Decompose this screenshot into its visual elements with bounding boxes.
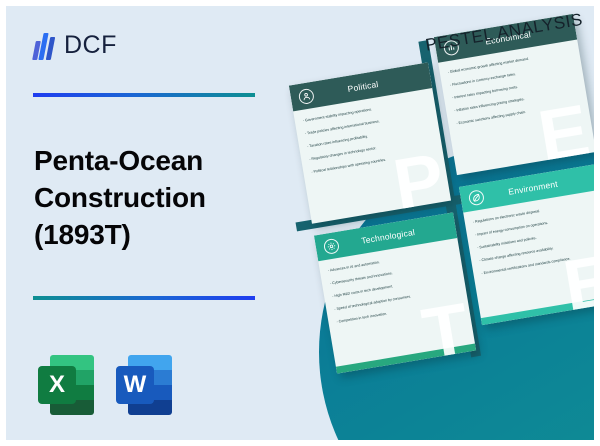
brand-logo[interactable]: DCF: [34, 30, 117, 60]
pestel-card-political[interactable]: Political P Government stability impacti…: [289, 62, 451, 223]
bar-chart-logo-icon: [34, 30, 56, 60]
page-title: Penta-Ocean Construction (1893T): [34, 143, 284, 254]
left-content-column: DCF Penta-Ocean Construction (1893T) X W: [6, 6, 306, 446]
word-file-icon[interactable]: W: [116, 355, 172, 415]
excel-letter: X: [38, 366, 76, 404]
brand-logo-text: DCF: [64, 31, 117, 60]
file-format-icons: X W: [38, 355, 172, 415]
pestel-card-technological[interactable]: Technological T Advances in AI and autom…: [314, 212, 476, 373]
divider-top: [33, 93, 255, 97]
slide-canvas: DCF Penta-Ocean Construction (1893T) X W…: [0, 0, 600, 446]
divider-bottom: [33, 296, 255, 300]
pestel-card-environment[interactable]: Environment E Regulations on electronic …: [459, 164, 600, 325]
word-letter: W: [116, 366, 154, 404]
excel-file-icon[interactable]: X: [38, 355, 94, 415]
pestel-analysis-graphic: PESTEL ANALYSIS Political P Gov: [306, 6, 600, 446]
pestel-card-grid: Political P Government stability impacti…: [281, 24, 600, 373]
